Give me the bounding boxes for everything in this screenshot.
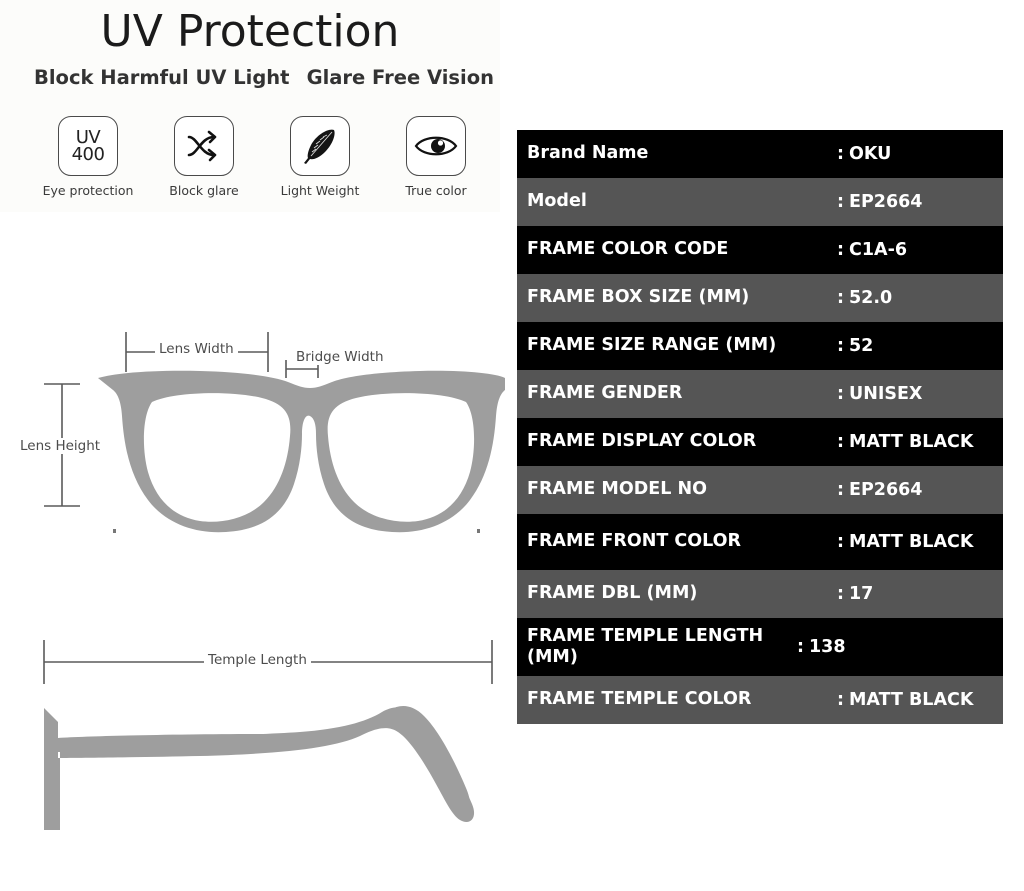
spec-key: Brand Name: [517, 143, 837, 164]
uv-protection-banner: UV Protection Block Harmful UV Light Gla…: [0, 0, 500, 212]
product-infographic-panel: UV Protection Block Harmful UV Light Gla…: [0, 0, 512, 886]
table-row: FRAME COLOR CODE :C1A-6: [517, 226, 1003, 274]
spec-value: :OKU: [837, 144, 1003, 164]
spec-separator: :: [837, 288, 844, 308]
spec-value-text: MATT BLACK: [849, 432, 973, 452]
spec-separator: :: [837, 432, 844, 452]
spec-value-text: MATT BLACK: [849, 690, 973, 710]
feature-label-block-glare: Block glare: [169, 183, 238, 198]
product-spec-table: Brand Name :OKU Model :EP2664 FRAME COLO…: [517, 130, 1003, 724]
feather-icon-glyph: [299, 125, 341, 167]
spec-value-text: C1A-6: [849, 240, 907, 260]
table-row: FRAME BOX SIZE (MM) :52.0: [517, 274, 1003, 322]
table-row: Model :EP2664: [517, 178, 1003, 226]
eye-icon-glyph: [414, 132, 458, 160]
table-row: FRAME TEMPLE COLOR :MATT BLACK: [517, 676, 1003, 724]
spec-key: FRAME MODEL NO: [517, 479, 837, 500]
feature-eye-protection: UV 400 Eye protection: [36, 116, 140, 198]
spec-separator: :: [837, 532, 844, 552]
table-row: FRAME TEMPLE LENGTH (MM) :138: [517, 618, 1003, 676]
spec-separator: :: [837, 384, 844, 404]
lens-height-label: Lens Height: [16, 438, 104, 454]
table-row: Brand Name :OKU: [517, 130, 1003, 178]
shuffle-arrows-icon: [174, 116, 234, 176]
spec-key: FRAME COLOR CODE: [517, 239, 837, 260]
spec-value-text: 52: [849, 336, 873, 356]
spec-value: :MATT BLACK: [837, 532, 1003, 552]
spec-key: FRAME BOX SIZE (MM): [517, 287, 837, 308]
spec-value-text: MATT BLACK: [849, 532, 973, 552]
table-row: FRAME DISPLAY COLOR :MATT BLACK: [517, 418, 1003, 466]
spec-key: Model: [517, 191, 837, 212]
feature-label-eye-protection: Eye protection: [43, 183, 134, 198]
spec-value: :EP2664: [837, 480, 1003, 500]
feather-icon: [290, 116, 350, 176]
spec-value-text: EP2664: [849, 192, 923, 212]
spec-key: FRAME DISPLAY COLOR: [517, 431, 837, 452]
table-row: FRAME GENDER :UNISEX: [517, 370, 1003, 418]
spec-key: FRAME GENDER: [517, 383, 837, 404]
spec-value-text: OKU: [849, 144, 891, 164]
banner-subtitle-glare-free: Glare Free Vision: [307, 66, 494, 89]
banner-subtitle-uv-light: Block Harmful UV Light: [34, 66, 290, 89]
uv400-icon: UV 400: [58, 116, 118, 176]
banner-title: UV Protection: [0, 6, 500, 57]
table-row: FRAME FRONT COLOR :MATT BLACK: [517, 514, 1003, 570]
eye-icon: [406, 116, 466, 176]
feature-true-color: True color: [384, 116, 488, 198]
spec-separator: :: [837, 584, 844, 604]
spec-value: :52.0: [837, 288, 1003, 308]
feature-icon-row: UV 400 Eye protection: [36, 116, 488, 198]
shuffle-arrows-icon-glyph: [184, 128, 224, 164]
spec-key: FRAME DBL (MM): [517, 583, 837, 604]
spec-value: :C1A-6: [837, 240, 1003, 260]
spec-key: FRAME FRONT COLOR: [517, 531, 837, 552]
spec-key: FRAME SIZE RANGE (MM): [517, 335, 837, 356]
spec-value: :MATT BLACK: [837, 690, 1003, 710]
uv400-icon-bottom-text: 400: [72, 146, 105, 163]
feature-light-weight: Light Weight: [268, 116, 372, 198]
eyeglass-frame-front-diagram: Lens Width Bridge Width Lens Height: [0, 316, 512, 582]
spec-value-text: EP2664: [849, 480, 923, 500]
spec-value: :17: [837, 584, 1003, 604]
spec-value: :52: [837, 336, 1003, 356]
spec-separator: :: [797, 637, 804, 657]
spec-value: :138: [797, 637, 1003, 657]
spec-separator: :: [837, 192, 844, 212]
lens-width-label: Lens Width: [155, 341, 238, 357]
spec-separator: :: [837, 480, 844, 500]
spec-separator: :: [837, 144, 844, 164]
spec-separator: :: [837, 690, 844, 710]
spec-value-text: 17: [849, 584, 873, 604]
eyeglass-temple-side-diagram: Temple Length: [0, 612, 512, 886]
temple-length-label: Temple Length: [204, 652, 311, 668]
table-row: FRAME SIZE RANGE (MM) :52: [517, 322, 1003, 370]
spec-separator: :: [837, 240, 844, 260]
spec-key: FRAME TEMPLE LENGTH (MM): [517, 626, 797, 669]
spec-key: FRAME TEMPLE COLOR: [517, 689, 837, 710]
spec-value-text: 52.0: [849, 288, 892, 308]
spec-value: :MATT BLACK: [837, 432, 1003, 452]
feature-label-light-weight: Light Weight: [281, 183, 360, 198]
spec-value: :UNISEX: [837, 384, 1003, 404]
spec-value: :EP2664: [837, 192, 1003, 212]
feature-label-true-color: True color: [405, 183, 466, 198]
table-row: FRAME DBL (MM) :17: [517, 570, 1003, 618]
banner-subtitles: Block Harmful UV Light Glare Free Vision: [34, 66, 494, 89]
feature-block-glare: Block glare: [152, 116, 256, 198]
spec-value-text: 138: [809, 637, 846, 657]
spec-value-text: UNISEX: [849, 384, 922, 404]
spec-separator: :: [837, 336, 844, 356]
bridge-width-label: Bridge Width: [292, 349, 388, 365]
table-row: FRAME MODEL NO :EP2664: [517, 466, 1003, 514]
